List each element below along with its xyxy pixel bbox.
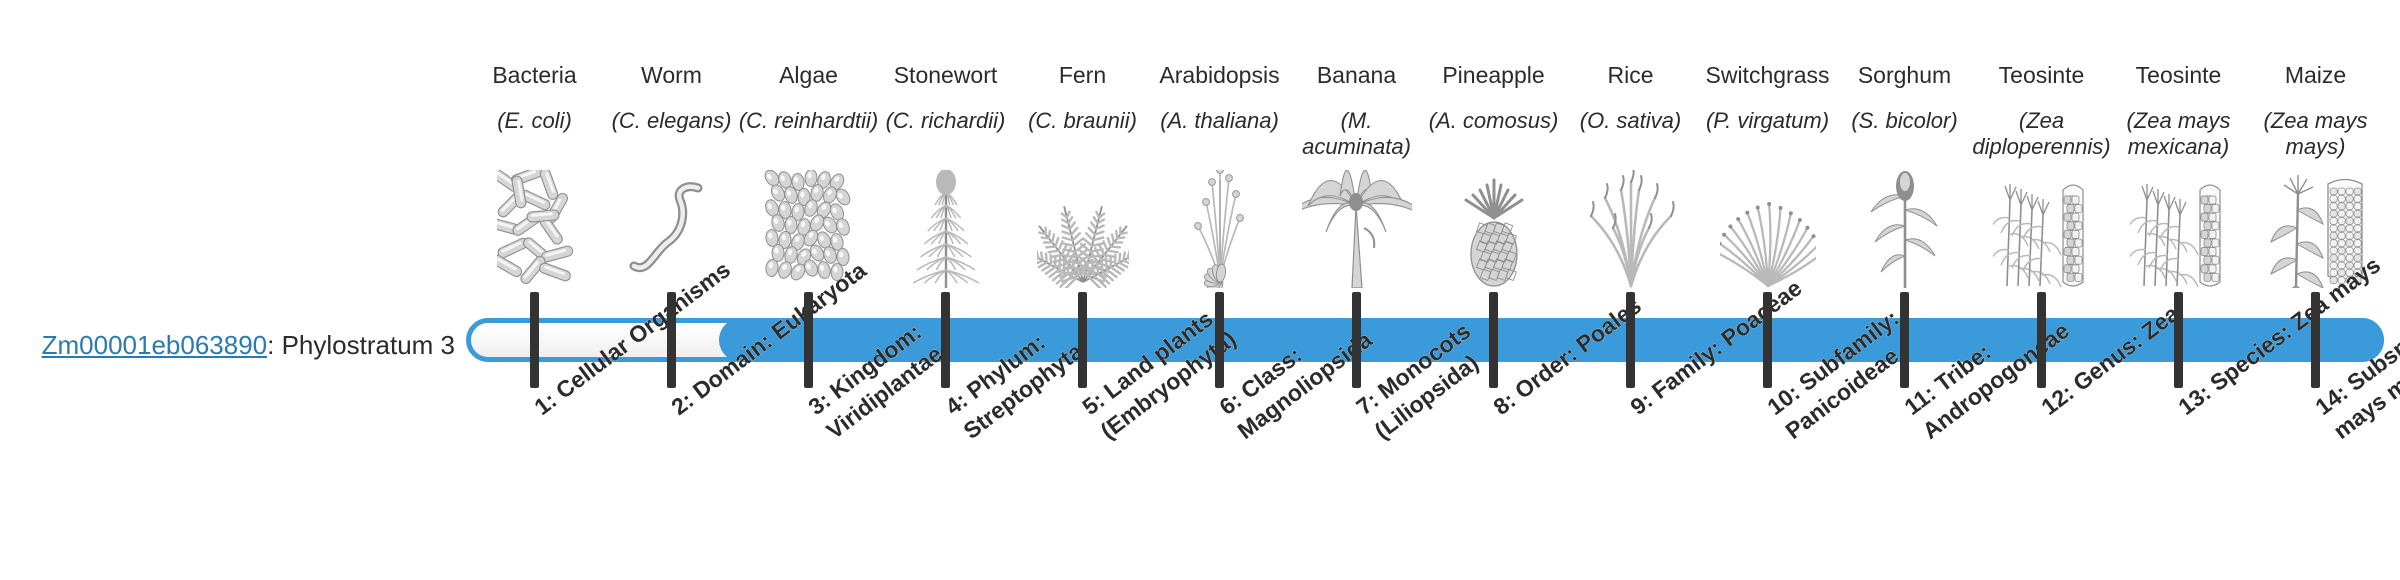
species-common-name: Arabidopsis — [1145, 62, 1294, 89]
species-common-name: Worm — [597, 62, 746, 89]
species-latin-name: (S. bicolor) — [1832, 108, 1977, 134]
species-common-name: Bacteria — [460, 62, 609, 89]
species-common-name: Teosinte — [2104, 62, 2253, 89]
phylostratum-tick-12[interactable] — [2037, 292, 2046, 388]
phylostratum-tick-3[interactable] — [804, 292, 813, 388]
species-latin-name: (P. virgatum) — [1695, 108, 1840, 134]
species-common-name: Teosinte — [1967, 62, 2116, 89]
phylostratum-tick-7[interactable] — [1352, 292, 1361, 388]
species-latin-name: (E. coli) — [462, 108, 607, 134]
phylostratum-value: Phylostratum 3 — [282, 330, 455, 360]
species-common-name: Rice — [1556, 62, 1705, 89]
species-common-name: Stonewort — [871, 62, 1020, 89]
species-common-name: Algae — [734, 62, 883, 89]
species-latin-name: (C. reinhardtii) — [736, 108, 881, 134]
species-latin-name: (Zea mays mays) — [2243, 108, 2388, 160]
species-latin-name: (Zea mays mexicana) — [2106, 108, 2251, 160]
phylostratum-tick-2[interactable] — [667, 292, 676, 388]
phylostratum-tick-1[interactable] — [530, 292, 539, 388]
gene-phylostratum-label: Zm00001eb063890: Phylostratum 3 — [0, 330, 455, 360]
species-latin-name: (A. comosus) — [1421, 108, 1566, 134]
species-latin-name: (C. elegans) — [599, 108, 744, 134]
gene-accession-link[interactable]: Zm00001eb063890 — [42, 330, 268, 360]
species-common-name: Banana — [1282, 62, 1431, 89]
phylostratum-tick-6[interactable] — [1215, 292, 1224, 388]
phylostratum-tick-11[interactable] — [1900, 292, 1909, 388]
phylostratum-figure: Zm00001eb063890: Phylostratum 3 Bacteria… — [0, 0, 2400, 580]
gene-label-separator: : — [267, 330, 281, 360]
phylostratum-tick-10[interactable] — [1763, 292, 1772, 388]
bacteria-rods-icon — [466, 168, 603, 288]
species-latin-name: (A. thaliana) — [1147, 108, 1292, 134]
phylostratum-tick-8[interactable] — [1489, 292, 1498, 388]
species-latin-name: (M. acuminata) — [1284, 108, 1429, 160]
species-latin-name: (C. braunii) — [1010, 108, 1155, 134]
phylostratum-tick-14[interactable] — [2311, 292, 2320, 388]
species-latin-name: (C. richardii) — [873, 108, 1018, 134]
species-column-1: Bacteria(E. coli) — [466, 0, 603, 580]
species-common-name: Switchgrass — [1693, 62, 1842, 89]
phylostratum-tick-5[interactable] — [1078, 292, 1087, 388]
species-common-name: Pineapple — [1419, 62, 1568, 89]
phylostratum-tick-13[interactable] — [2174, 292, 2183, 388]
species-latin-name: (O. sativa) — [1558, 108, 1703, 134]
phylostratum-tick-4[interactable] — [941, 292, 950, 388]
phylostratum-tick-9[interactable] — [1626, 292, 1635, 388]
species-latin-name: (Zea diploperennis) — [1969, 108, 2114, 160]
species-common-name: Maize — [2241, 62, 2390, 89]
species-common-name: Fern — [1008, 62, 1157, 89]
species-common-name: Sorghum — [1830, 62, 1979, 89]
